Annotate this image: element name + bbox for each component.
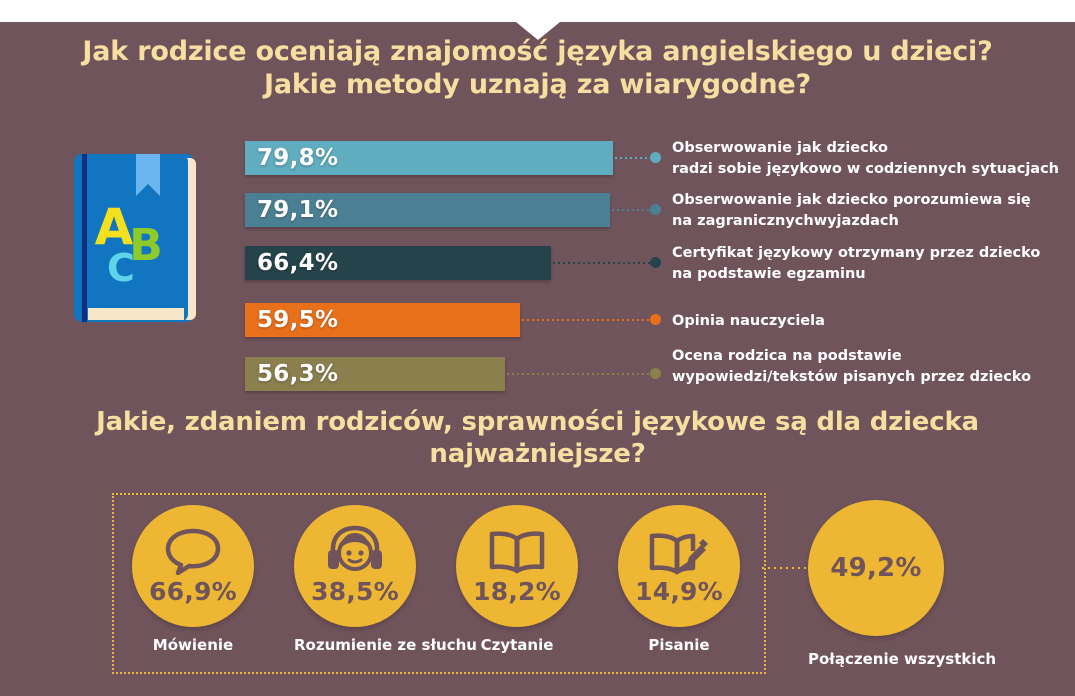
section-title: Jakie, zdaniem rodziców, sprawności języ… xyxy=(0,407,1075,470)
leader-line xyxy=(522,319,653,321)
book-pencil-icon xyxy=(649,530,709,581)
leader-line xyxy=(612,209,653,211)
skill-value: 66,9% xyxy=(132,577,254,606)
skill-value: 18,2% xyxy=(456,577,578,606)
bar-label-line: Certyfikat językowy otrzymany przez dzie… xyxy=(672,243,1040,264)
leader-dot-icon xyxy=(650,204,661,215)
bar-label-line: na zagranicznychwyjazdach xyxy=(672,211,1031,232)
leader-dot-icon xyxy=(650,368,661,379)
skill-label: Mówienie xyxy=(132,636,254,654)
bar-value: 56,3% xyxy=(257,357,338,391)
section-title-line-1: Jakie, zdaniem rodziców, sprawności języ… xyxy=(0,407,1075,439)
bar-label-line: radzi sobie językowo w codziennych sytua… xyxy=(672,159,1059,180)
section-title-line-2: najważniejsze? xyxy=(0,439,1075,471)
skill-item-reading[interactable]: 18,2% Czytanie xyxy=(456,505,578,654)
leader-line xyxy=(615,157,653,159)
headphones-child-icon xyxy=(326,524,384,581)
skill-label: Rozumienie ze słuchu xyxy=(294,636,416,654)
skill-value: 14,9% xyxy=(618,577,740,606)
speech-bubble-icon xyxy=(165,527,221,580)
skill-item-combined[interactable]: 49,2% Połączenie wszystkich xyxy=(808,500,944,668)
bar-label: Opinia nauczyciela xyxy=(672,311,825,332)
bar-label-line: Obserwowanie jak dziecko xyxy=(672,138,1059,159)
leader-dot-icon xyxy=(650,152,661,163)
bar-label-line: Obserwowanie jak dziecko porozumiewa się xyxy=(672,190,1031,211)
bar-label: Certyfikat językowy otrzymany przez dzie… xyxy=(672,243,1040,285)
bar-label: Obserwowanie jak dziecko radzi sobie jęz… xyxy=(672,138,1059,180)
bar-value: 59,5% xyxy=(257,303,338,337)
bar-label-line: Opinia nauczyciela xyxy=(672,311,825,332)
infographic-root: Jak rodzice oceniają znajomość języka an… xyxy=(0,0,1075,696)
combo-connector-line xyxy=(762,567,814,569)
leader-line xyxy=(507,373,653,375)
skill-circle: 66,9% xyxy=(132,505,254,627)
leader-line xyxy=(553,262,653,264)
skill-circle: 38,5% xyxy=(294,505,416,627)
skill-circle: 18,2% xyxy=(456,505,578,627)
leader-dot-icon xyxy=(650,314,661,325)
skill-label: Połączenie wszystkich xyxy=(808,650,944,668)
skill-label: Czytanie xyxy=(456,636,578,654)
skill-value: 49,2% xyxy=(808,553,944,583)
bar-label-line: Ocena rodzica na podstawie xyxy=(672,346,1031,367)
bar-label: Obserwowanie jak dziecko porozumiewa się… xyxy=(672,190,1031,232)
bar-label-line: wypowiedzi/tekstów pisanych przez dzieck… xyxy=(672,367,1031,388)
bar-label: Ocena rodzica na podstawie wypowiedzi/te… xyxy=(672,346,1031,388)
bar-value: 79,1% xyxy=(257,193,338,227)
skill-label: Pisanie xyxy=(618,636,740,654)
skill-value: 38,5% xyxy=(294,577,416,606)
skill-item-speaking[interactable]: 66,9% Mówienie xyxy=(132,505,254,654)
skill-circle: 14,9% xyxy=(618,505,740,627)
skill-item-listening[interactable]: 38,5% Rozumienie ze słuchu xyxy=(294,505,416,654)
bar-value: 79,8% xyxy=(257,141,338,175)
bar-label-line: na podstawie egzaminu xyxy=(672,264,1040,285)
leader-dot-icon xyxy=(650,257,661,268)
triangle-down-icon xyxy=(516,22,560,40)
skill-circle: 49,2% xyxy=(808,500,944,636)
bar-chart: 79,8% Obserwowanie jak dziecko radzi sob… xyxy=(0,0,1075,400)
open-book-icon xyxy=(488,530,546,579)
skill-item-writing[interactable]: 14,9% Pisanie xyxy=(618,505,740,654)
bar-value: 66,4% xyxy=(257,246,338,280)
